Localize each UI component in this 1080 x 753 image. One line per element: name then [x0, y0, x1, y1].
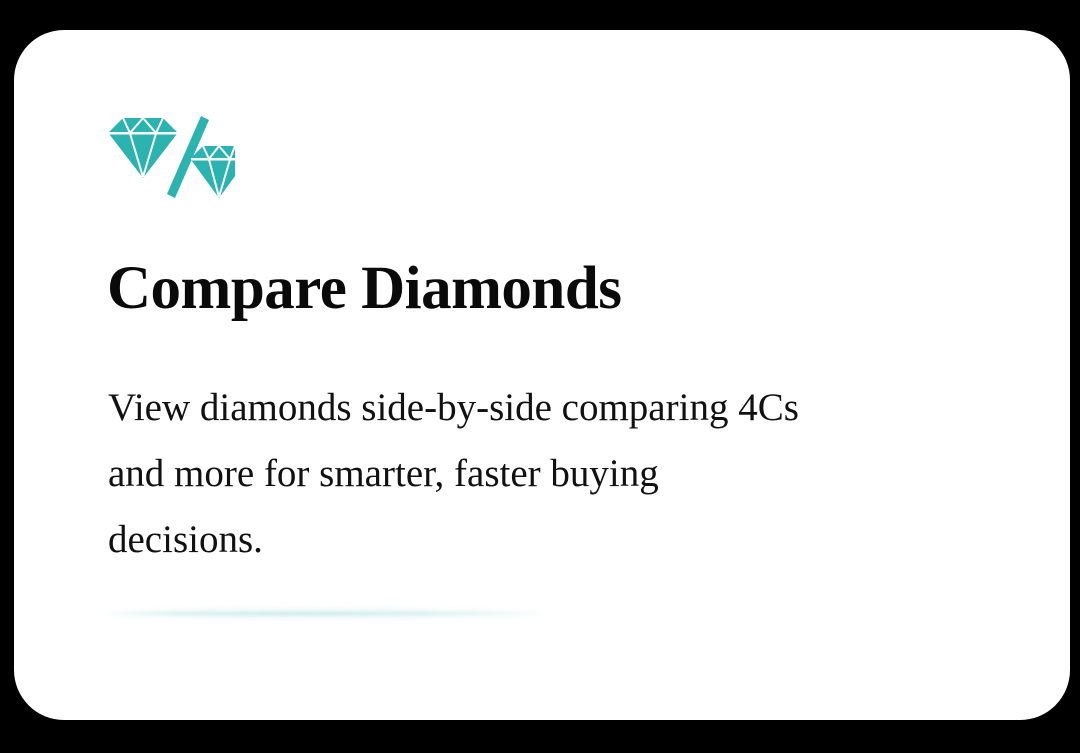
compare-diamonds-icon-graphic	[105, 110, 235, 210]
diamond-left-icon	[109, 118, 177, 178]
accent-divider	[100, 608, 552, 619]
description-line-1: View diamonds side-by-side comparing 4Cs	[108, 375, 968, 441]
page-background: Compare Diamonds View diamonds side-by-s…	[0, 0, 1080, 753]
compare-diamonds-icon	[105, 110, 235, 210]
feature-card[interactable]: Compare Diamonds View diamonds side-by-s…	[14, 30, 1070, 720]
page-title: Compare Diamonds	[107, 252, 622, 326]
divider-glow-inner	[100, 612, 552, 615]
card-content: Compare Diamonds View diamonds side-by-s…	[14, 30, 1070, 720]
description-line-3: decisions.	[108, 507, 968, 573]
description-line-2: and more for smarter, faster buying	[108, 441, 968, 507]
description-text: View diamonds side-by-side comparing 4Cs…	[108, 375, 968, 573]
